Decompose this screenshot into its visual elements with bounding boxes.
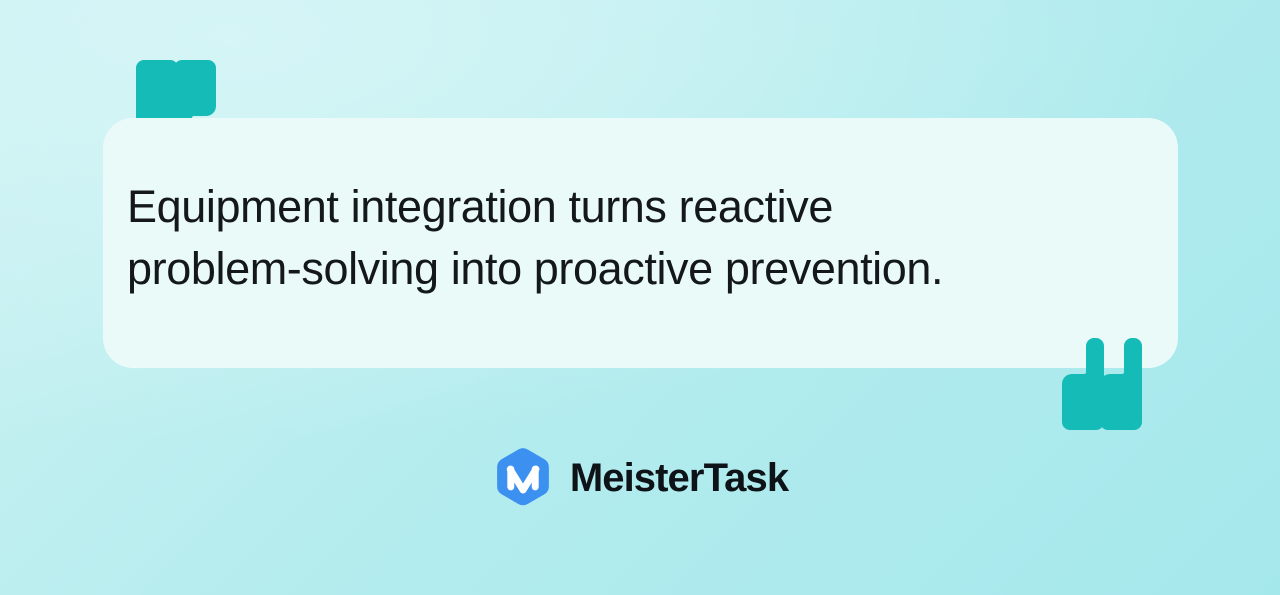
meistertask-hexagon-logo-icon [492,447,554,509]
brand-lockup: MeisterTask [0,447,1280,509]
quote-card: Equipment integration turns reactive pro… [103,118,1178,368]
brand-wordmark: MeisterTask [570,458,788,498]
quote-text: Equipment integration turns reactive pro… [127,176,1137,300]
quote-graphic: Equipment integration turns reactive pro… [0,0,1280,595]
close-quote-icon [1054,338,1142,430]
